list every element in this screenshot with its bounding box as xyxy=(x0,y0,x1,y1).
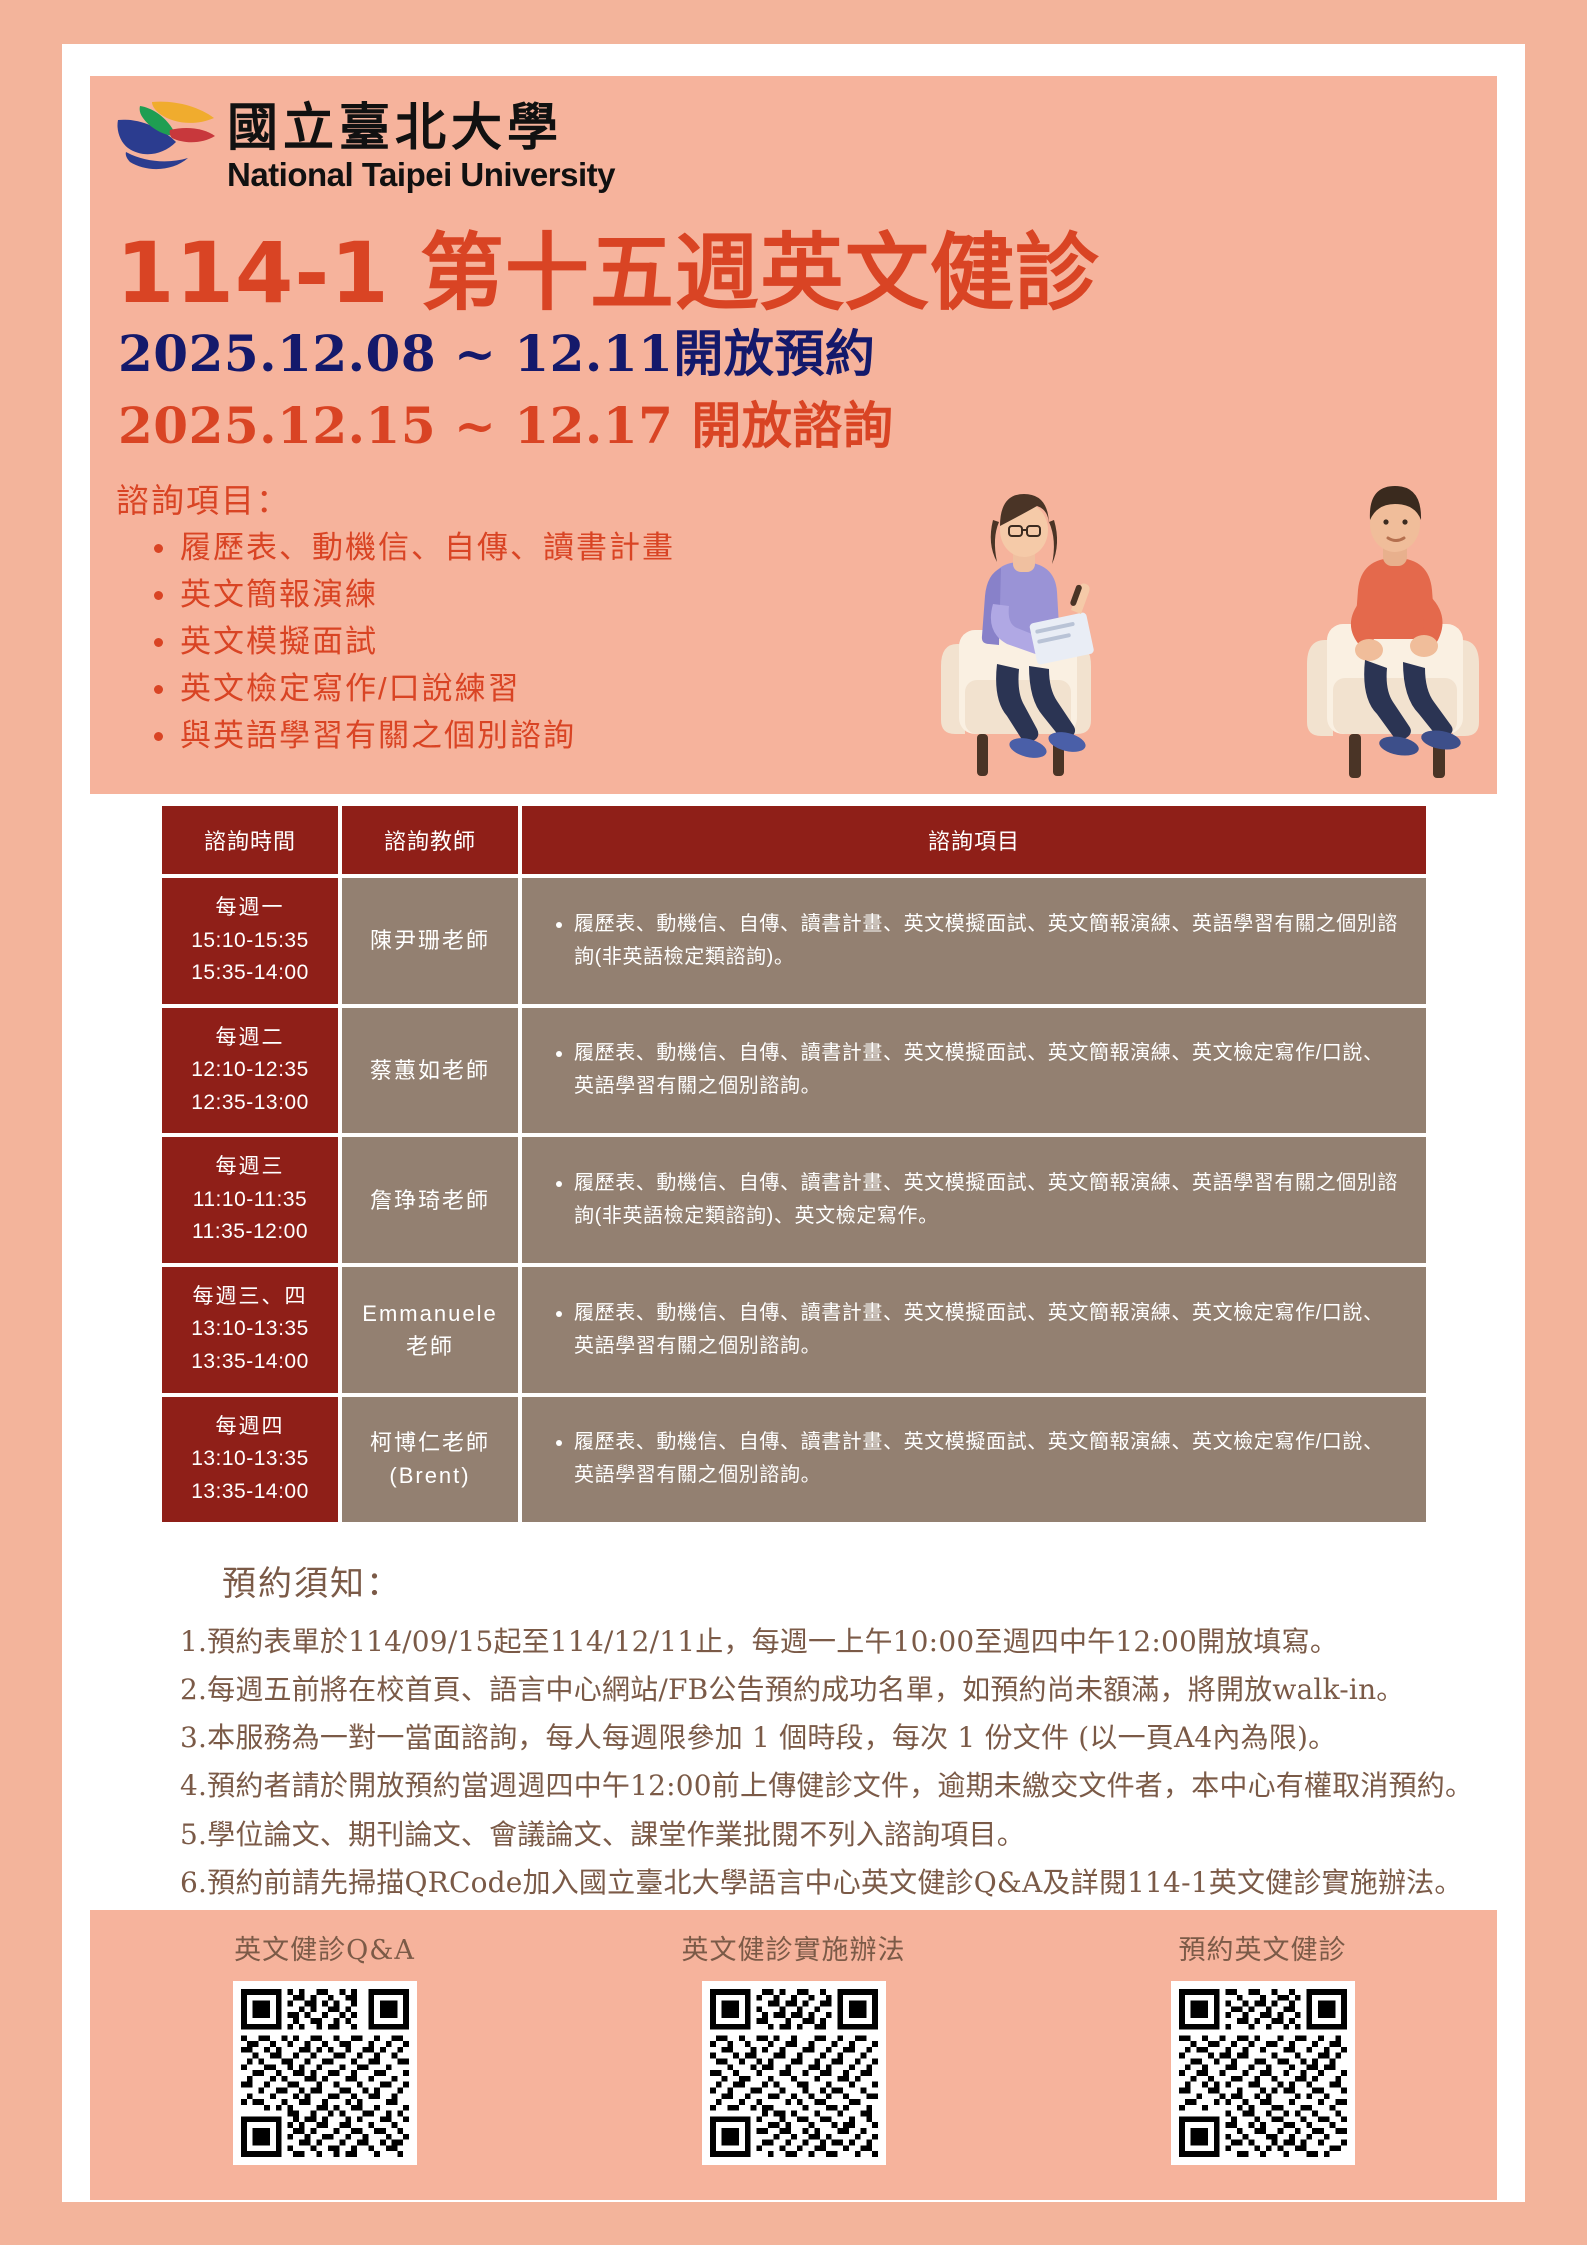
consultation-illustration xyxy=(925,434,1495,794)
qr-code-icon xyxy=(241,1989,409,2157)
time-slot-1: 11:10-11:35 xyxy=(166,1184,334,1217)
list-item: 3.本服務為一對一當面諮詢，每人每週限參加 1 個時段，每次 1 份文件 (以一… xyxy=(180,1714,1480,1762)
qr-label: 英文健診實施辦法 xyxy=(629,1928,959,1967)
list-item: 2.每週五前將在校首頁、語言中心網站/FB公告預約成功名單，如預約尚未額滿，將開… xyxy=(180,1666,1480,1714)
cell-teacher: 詹琤琦老師 xyxy=(342,1137,518,1263)
poster-root: 國立臺北大學 National Taipei University 114-1 … xyxy=(0,0,1587,2245)
npu-bird-logo-icon xyxy=(114,96,219,191)
time-slot-2: 13:35-14:00 xyxy=(166,1476,334,1509)
time-slot-2: 11:35-12:00 xyxy=(166,1216,334,1249)
time-slot-1: 13:10-13:35 xyxy=(166,1313,334,1346)
list-item: 履歷表、動機信、自傳、讀書計畫、英文模擬面試、英文簡報演練、英文檢定寫作/口說、… xyxy=(574,1037,1400,1103)
cell-time: 每週三、四 13:10-13:35 13:35-14:00 xyxy=(162,1267,338,1393)
time-slot-2: 13:35-14:00 xyxy=(166,1346,334,1379)
list-item: 履歷表、動機信、自傳、讀書計畫、英文模擬面試、英文簡報演練、英語學習有關之個別諮… xyxy=(574,908,1400,974)
booking-period: 2025.12.08 ~ 12.11開放預約 xyxy=(118,314,875,386)
cell-teacher: 陳尹珊老師 xyxy=(342,878,518,1004)
teacher-name: 蔡蕙如老師 xyxy=(346,1054,514,1087)
column-header-items: 諮詢項目 xyxy=(522,806,1426,874)
table-header-row: 諮詢時間 諮詢教師 諮詢項目 xyxy=(162,806,1426,874)
consultation-period: 2025.12.15 ~ 12.17 開放諮詢 xyxy=(118,386,893,458)
qr-block-qa: 英文健診Q&A xyxy=(160,1928,490,2165)
cell-teacher: Emmanuele 老師 xyxy=(342,1267,518,1393)
list-item: 履歷表、動機信、自傳、讀書計畫 xyxy=(180,524,675,571)
university-logo: 國立臺北大學 National Taipei University xyxy=(114,96,615,194)
list-item: 英文模擬面試 xyxy=(180,618,675,665)
qr-code-image[interactable] xyxy=(702,1981,886,2165)
cell-time: 每週一 15:10-15:35 15:35-14:00 xyxy=(162,878,338,1004)
list-item: 與英語學習有關之個別諮詢 xyxy=(180,712,675,759)
qr-code-band: 英文健診Q&A xyxy=(90,1910,1497,2200)
time-day: 每週三 xyxy=(166,1151,334,1184)
consultation-schedule-table: 諮詢時間 諮詢教師 諮詢項目 每週一 15:10-15:35 15:35-14:… xyxy=(158,802,1430,1526)
time-slot-2: 15:35-14:00 xyxy=(166,957,334,990)
list-item: 5.學位論文、期刊論文、會議論文、課堂作業批閱不列入諮詢項目。 xyxy=(180,1811,1480,1859)
teacher-name-sub: (Brent) xyxy=(346,1459,514,1492)
cell-items: 履歷表、動機信、自傳、讀書計畫、英文模擬面試、英文簡報演練、英文檢定寫作/口說、… xyxy=(522,1008,1426,1134)
qr-block-guidelines: 英文健診實施辦法 xyxy=(629,1928,959,2165)
cell-time: 每週三 11:10-11:35 11:35-12:00 xyxy=(162,1137,338,1263)
time-day: 每週二 xyxy=(166,1022,334,1055)
teacher-name: 柯博仁老師 xyxy=(346,1426,514,1459)
table-row: 每週三 11:10-11:35 11:35-12:00 詹琤琦老師 履歷表、動機… xyxy=(162,1137,1426,1263)
list-item: 履歷表、動機信、自傳、讀書計畫、英文模擬面試、英文簡報演練、英文檢定寫作/口說、… xyxy=(574,1426,1400,1492)
cell-items: 履歷表、動機信、自傳、讀書計畫、英文模擬面試、英文簡報演練、英語學習有關之個別諮… xyxy=(522,878,1426,1004)
qr-code-image[interactable] xyxy=(1171,1981,1355,2165)
list-item: 4.預約者請於開放預約當週週四中午12:00前上傳健診文件，逾期未繳交文件者，本… xyxy=(180,1762,1480,1810)
time-slot-1: 12:10-12:35 xyxy=(166,1054,334,1087)
column-header-teacher: 諮詢教師 xyxy=(342,806,518,874)
list-item: 1.預約表單於114/09/15起至114/12/11止，每週一上午10:00至… xyxy=(180,1618,1480,1666)
column-header-time: 諮詢時間 xyxy=(162,806,338,874)
qr-code-icon xyxy=(710,1989,878,2157)
cell-time: 每週二 12:10-12:35 12:35-13:00 xyxy=(162,1008,338,1134)
table-row: 每週三、四 13:10-13:35 13:35-14:00 Emmanuele … xyxy=(162,1267,1426,1393)
page-title: 114-1 第十五週英文健診 xyxy=(116,206,1100,327)
teacher-name: 詹琤琦老師 xyxy=(346,1184,514,1217)
time-day: 每週三、四 xyxy=(166,1281,334,1314)
university-name-cn: 國立臺北大學 xyxy=(227,102,615,154)
qr-code-image[interactable] xyxy=(233,1981,417,2165)
teacher-name-sub: 老師 xyxy=(346,1330,514,1363)
list-item: 履歷表、動機信、自傳、讀書計畫、英文模擬面試、英文簡報演練、英語學習有關之個別諮… xyxy=(574,1167,1400,1233)
table-row: 每週二 12:10-12:35 12:35-13:00 蔡蕙如老師 履歷表、動機… xyxy=(162,1008,1426,1134)
qr-block-booking: 預約英文健診 xyxy=(1098,1928,1428,2165)
list-item: 英文檢定寫作/口說練習 xyxy=(180,665,675,712)
booking-notes-title: 預約須知： xyxy=(222,1556,402,1605)
university-name-en: National Taipei University xyxy=(227,156,615,194)
consultation-items-list: 履歷表、動機信、自傳、讀書計畫 英文簡報演練 英文模擬面試 英文檢定寫作/口說練… xyxy=(142,524,675,760)
consultation-items-title: 諮詢項目： xyxy=(116,474,291,522)
table-row: 每週一 15:10-15:35 15:35-14:00 陳尹珊老師 履歷表、動機… xyxy=(162,878,1426,1004)
qr-code-icon xyxy=(1179,1989,1347,2157)
cell-items: 履歷表、動機信、自傳、讀書計畫、英文模擬面試、英文簡報演練、英文檢定寫作/口說、… xyxy=(522,1267,1426,1393)
table-row: 每週四 13:10-13:35 13:35-14:00 柯博仁老師 (Brent… xyxy=(162,1397,1426,1523)
time-slot-2: 12:35-13:00 xyxy=(166,1087,334,1120)
time-slot-1: 15:10-15:35 xyxy=(166,925,334,958)
cell-teacher: 柯博仁老師 (Brent) xyxy=(342,1397,518,1523)
hero-panel: 國立臺北大學 National Taipei University 114-1 … xyxy=(90,76,1497,794)
booking-notes-list: 1.預約表單於114/09/15起至114/12/11止，每週一上午10:00至… xyxy=(180,1618,1480,1907)
cell-time: 每週四 13:10-13:35 13:35-14:00 xyxy=(162,1397,338,1523)
teacher-name: Emmanuele xyxy=(346,1297,514,1330)
qr-label: 英文健診Q&A xyxy=(160,1928,490,1967)
qr-label: 預約英文健診 xyxy=(1098,1928,1428,1967)
list-item: 6.預約前請先掃描QRCode加入國立臺北大學語言中心英文健診Q&A及詳閱114… xyxy=(180,1859,1480,1907)
teacher-name: 陳尹珊老師 xyxy=(346,924,514,957)
time-day: 每週四 xyxy=(166,1411,334,1444)
list-item: 履歷表、動機信、自傳、讀書計畫、英文模擬面試、英文簡報演練、英文檢定寫作/口說、… xyxy=(574,1297,1400,1363)
time-day: 每週一 xyxy=(166,892,334,925)
cell-items: 履歷表、動機信、自傳、讀書計畫、英文模擬面試、英文簡報演練、英語學習有關之個別諮… xyxy=(522,1137,1426,1263)
cell-items: 履歷表、動機信、自傳、讀書計畫、英文模擬面試、英文簡報演練、英文檢定寫作/口說、… xyxy=(522,1397,1426,1523)
list-item: 英文簡報演練 xyxy=(180,571,675,618)
cell-teacher: 蔡蕙如老師 xyxy=(342,1008,518,1134)
time-slot-1: 13:10-13:35 xyxy=(166,1443,334,1476)
